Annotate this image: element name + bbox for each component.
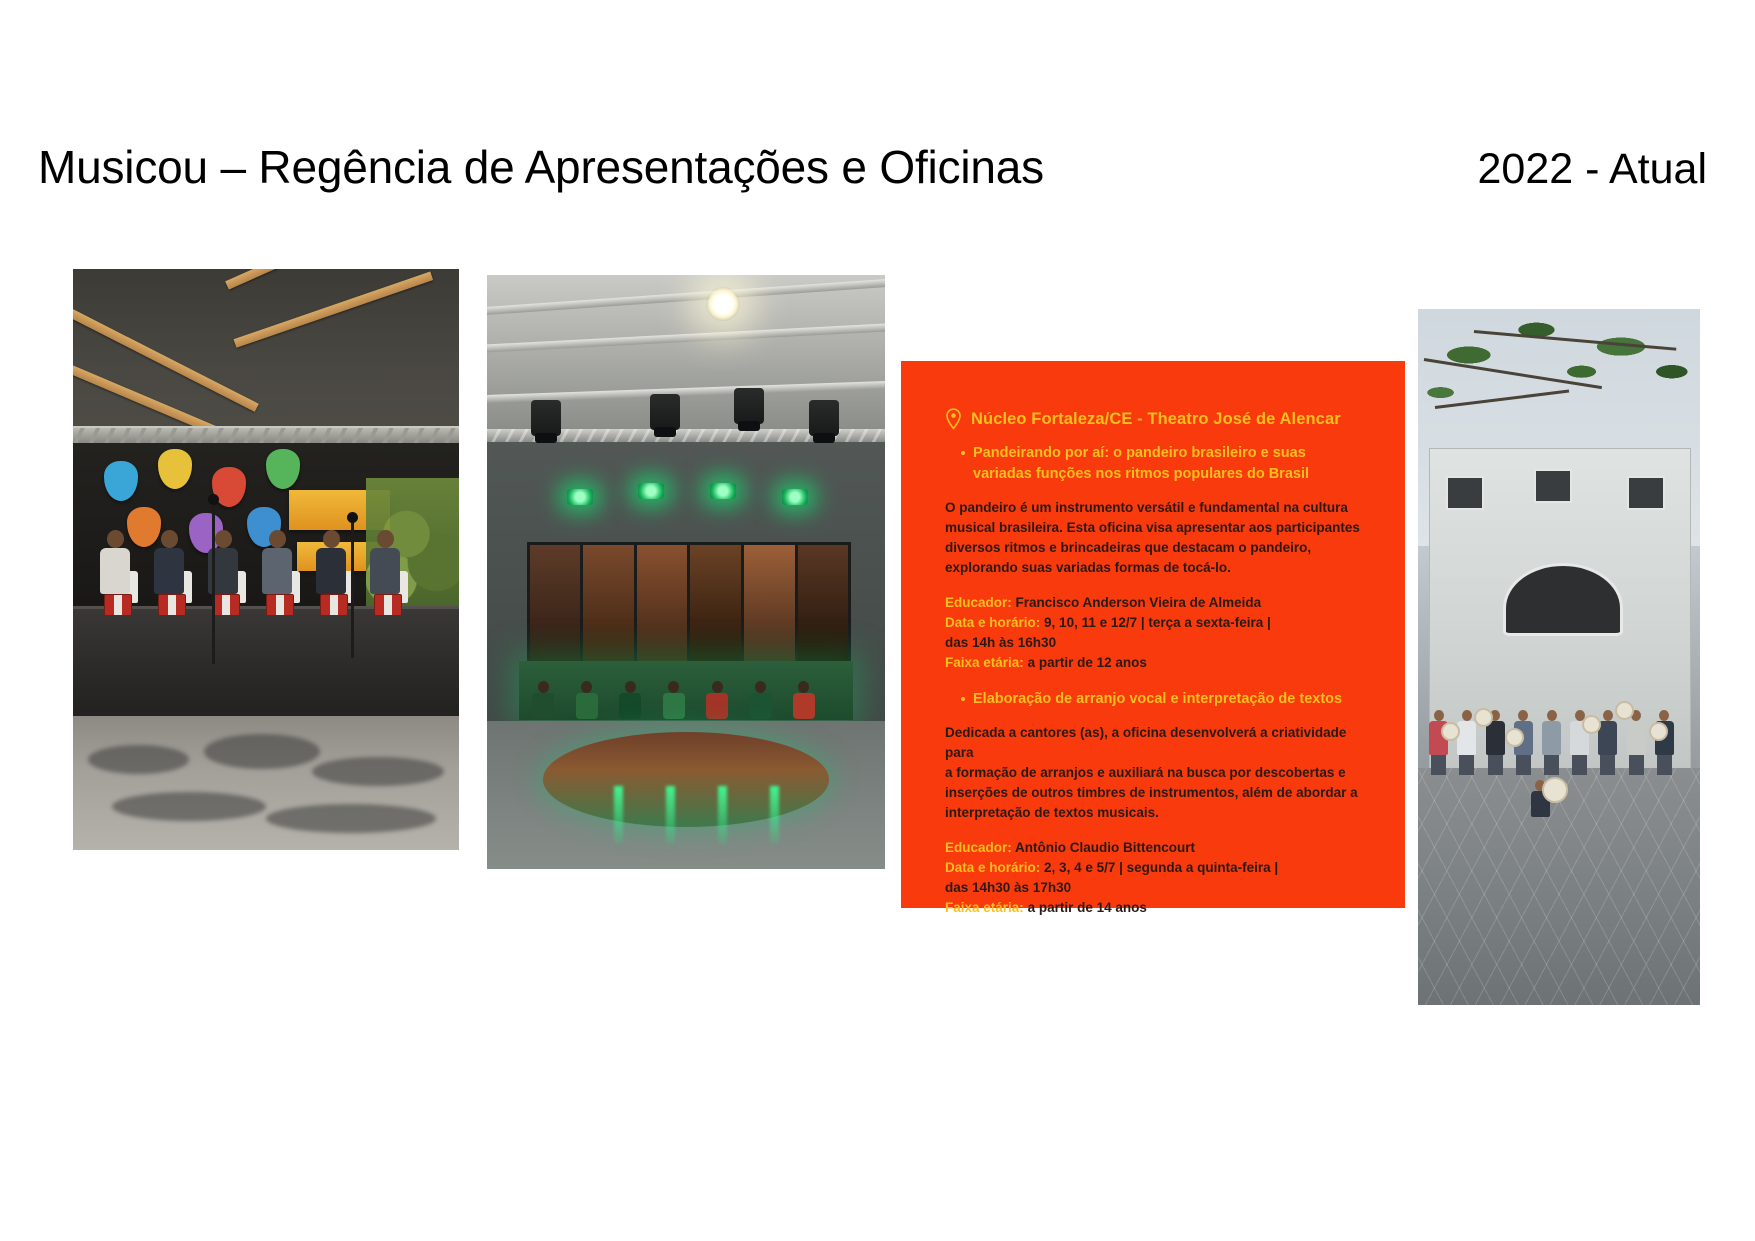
educator-value: Francisco Anderson Vieira de Almeida bbox=[1016, 595, 1262, 610]
musician bbox=[154, 530, 184, 594]
description-line: a formação de arranjos e auxiliará na bu… bbox=[945, 765, 1346, 780]
description-line: explorando suas variadas formas de tocá-… bbox=[945, 560, 1231, 575]
musician bbox=[370, 530, 400, 594]
description-line: inserções de outros timbres de instrumen… bbox=[945, 785, 1358, 800]
description-line: musical brasileira. Esta oficina visa ap… bbox=[945, 520, 1360, 535]
percussionist bbox=[619, 681, 641, 719]
microphone-stand bbox=[351, 519, 354, 658]
photo-green-stage bbox=[487, 275, 885, 869]
photo-panel bbox=[637, 545, 688, 664]
description-line: interpretação de textos musicais. bbox=[945, 805, 1159, 820]
circular-stage-riser bbox=[543, 732, 830, 827]
photo-group-outside bbox=[1418, 309, 1700, 1005]
educator-value: Antônio Claudio Bittencourt bbox=[1015, 840, 1195, 855]
workshop-title-line: Elaboração de arranjo vocal e interpreta… bbox=[973, 691, 1342, 707]
workshop-title-2: Elaboração de arranjo vocal e interpreta… bbox=[961, 689, 1375, 710]
bullet-dot-icon bbox=[961, 697, 965, 701]
workshop-description-1: O pandeiro é um instrumento versátil e f… bbox=[945, 498, 1375, 578]
stage-spotlight bbox=[809, 400, 839, 436]
participant bbox=[1655, 710, 1674, 775]
paved-ground bbox=[1418, 768, 1700, 1005]
workshop-title-1: Pandeirando por aí: o pandeiro brasileir… bbox=[961, 443, 1375, 484]
stage-spotlight bbox=[734, 388, 764, 424]
musician bbox=[262, 530, 292, 594]
workshop-meta-2: Educador: Antônio Claudio Bittencourt Da… bbox=[945, 838, 1375, 918]
date-range-label: 2022 - Atual bbox=[1477, 145, 1707, 193]
poster-workshop-flyer: Núcleo Fortaleza/CE - Theatro José de Al… bbox=[901, 361, 1405, 908]
workshop-meta-1: Educador: Francisco Anderson Vieira de A… bbox=[945, 593, 1375, 673]
poster-heading: Núcleo Fortaleza/CE - Theatro José de Al… bbox=[945, 408, 1375, 430]
schedule-value: 2, 3, 4 e 5/7 | segunda a quinta-feira | bbox=[1044, 860, 1278, 875]
schedule-value-2: das 14h30 às 17h30 bbox=[945, 880, 1071, 895]
musician bbox=[316, 530, 346, 594]
participant bbox=[1627, 710, 1646, 775]
green-uplight-beam bbox=[614, 786, 623, 844]
percussionist bbox=[663, 681, 685, 719]
workshop-description-2: Dedicada a cantores (as), a oficina dese… bbox=[945, 723, 1375, 823]
age-label: Faixa etária: bbox=[945, 655, 1024, 670]
educator-label: Educador: bbox=[945, 840, 1012, 855]
accordion bbox=[266, 594, 294, 616]
poster-heading-text: Núcleo Fortaleza/CE - Theatro José de Al… bbox=[971, 410, 1341, 429]
arched-window bbox=[1503, 563, 1623, 636]
photo-panel bbox=[798, 545, 849, 664]
stage-spotlight bbox=[650, 394, 680, 430]
pandeiro bbox=[1441, 722, 1460, 741]
percussionist bbox=[532, 681, 554, 719]
workshop-title-line: Pandeirando por aí: o pandeiro brasileir… bbox=[973, 445, 1306, 461]
photo-panel bbox=[744, 545, 795, 664]
workshop-title-line: variadas funções nos ritmos populares do… bbox=[973, 466, 1309, 482]
educator-label: Educador: bbox=[945, 595, 1012, 610]
pandeiro bbox=[1649, 722, 1668, 741]
percussionist bbox=[750, 681, 772, 719]
microphone-stand bbox=[212, 501, 215, 664]
musician bbox=[100, 530, 130, 594]
accordion bbox=[158, 594, 186, 616]
ground-shadow bbox=[112, 792, 266, 821]
bullet-dot-icon bbox=[961, 451, 965, 455]
accordion bbox=[104, 594, 132, 616]
description-line: O pandeiro é um instrumento versátil e f… bbox=[945, 500, 1348, 515]
pandeiro bbox=[1615, 701, 1634, 720]
photo-panel-wall bbox=[527, 542, 851, 667]
ceiling-lamp bbox=[706, 287, 740, 321]
photo-panel bbox=[690, 545, 741, 664]
participant bbox=[1542, 710, 1561, 775]
green-uplight-beam bbox=[666, 786, 675, 844]
stage-floor bbox=[73, 606, 459, 719]
photo-accordion-ensemble bbox=[73, 269, 459, 850]
green-stage-light bbox=[567, 489, 593, 505]
stage-platform bbox=[519, 661, 853, 720]
schedule-label: Data e horário: bbox=[945, 860, 1040, 875]
ground-shadow bbox=[312, 757, 443, 786]
description-line: Dedicada a cantores (as), a oficina dese… bbox=[945, 725, 1346, 760]
percussionist bbox=[706, 681, 728, 719]
schedule-value: 9, 10, 11 e 12/7 | terça a sexta-feira | bbox=[1044, 615, 1271, 630]
description-line: diversos ritmos e brincadeiras que desta… bbox=[945, 540, 1311, 555]
green-stage-light bbox=[782, 489, 808, 505]
participant bbox=[1429, 710, 1448, 775]
ground-shadow bbox=[204, 734, 320, 769]
accordion bbox=[212, 594, 240, 616]
green-uplight-beam bbox=[718, 786, 727, 844]
accordion bbox=[320, 594, 348, 616]
participant bbox=[1598, 710, 1617, 775]
schedule-label: Data e horário: bbox=[945, 615, 1040, 630]
page-title: Musicou – Regência de Apresentações e Of… bbox=[38, 142, 1044, 194]
map-pin-icon bbox=[945, 408, 962, 430]
ground-shadow bbox=[266, 804, 436, 833]
photo-panel bbox=[583, 545, 634, 664]
pandeiro bbox=[1582, 715, 1601, 734]
stage-spotlight bbox=[531, 400, 561, 436]
age-value: a partir de 12 anos bbox=[1028, 655, 1147, 670]
accordion bbox=[374, 594, 402, 616]
age-label: Faixa etária: bbox=[945, 900, 1024, 915]
age-value: a partir de 14 anos bbox=[1028, 900, 1147, 915]
green-stage-light bbox=[638, 483, 664, 499]
percussionist bbox=[793, 681, 815, 719]
photo-panel bbox=[530, 545, 581, 664]
percussionist bbox=[576, 681, 598, 719]
green-uplight-beam bbox=[770, 786, 779, 844]
green-stage-light bbox=[710, 483, 736, 499]
pandeiro bbox=[1474, 708, 1493, 727]
schedule-value-2: das 14h às 16h30 bbox=[945, 635, 1056, 650]
slide-canvas: Musicou – Regência de Apresentações e Of… bbox=[0, 0, 1755, 1241]
